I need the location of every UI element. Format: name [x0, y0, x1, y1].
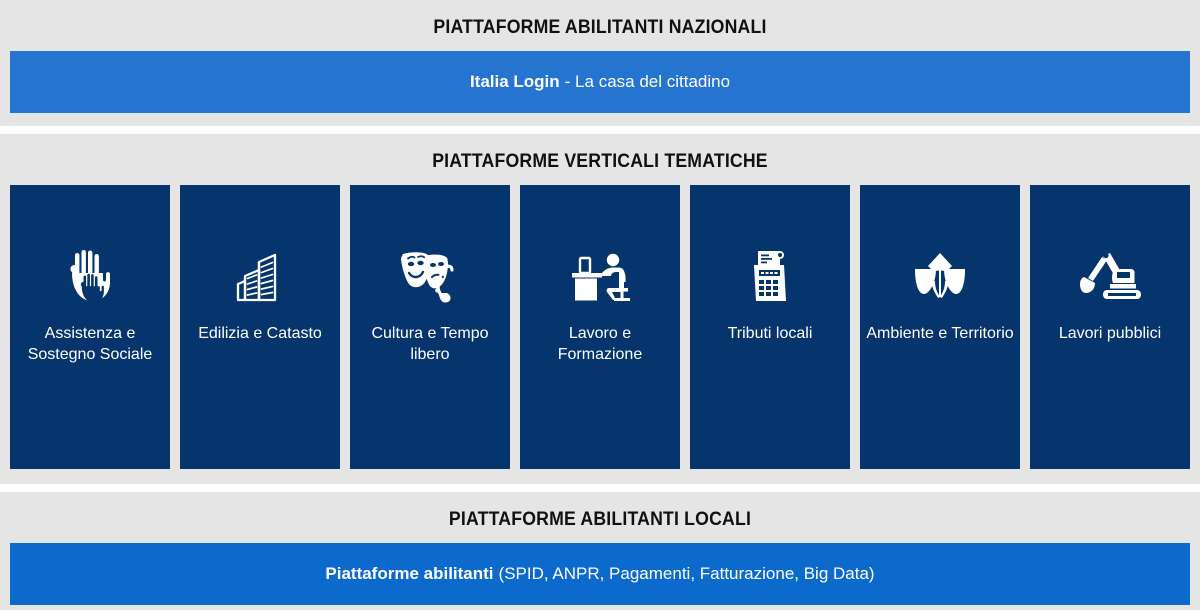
card-label: Tributi locali: [722, 323, 819, 344]
excavator-icon: [1078, 247, 1142, 309]
banner-italia-login[interactable]: Italia Login - La casa del cittadino: [10, 51, 1190, 113]
band-divider-bottom: [0, 484, 1200, 492]
banner-italia-login-strong: Italia Login: [470, 72, 560, 92]
section-title-local: PIATTAFORME ABILITANTI LOCALI: [42, 492, 1158, 543]
card-lavoro-formazione[interactable]: Lavoro e Formazione: [520, 185, 680, 469]
pos-terminal-icon: [738, 247, 802, 309]
banner-italia-login-rest: - La casa del cittadino: [565, 72, 730, 92]
banner-piattaforme-abilitanti[interactable]: Piattaforme abilitanti (SPID, ANPR, Paga…: [10, 543, 1190, 605]
card-label: Ambiente e Territorio: [860, 323, 1019, 344]
vertical-cards-row: Assistenza e Sostegno Sociale: [0, 185, 1200, 479]
person-at-desk-icon: [568, 247, 632, 309]
theatre-masks-saxophone-icon: [398, 247, 462, 309]
card-label: Lavori pubblici: [1053, 323, 1167, 344]
card-cultura-tempo-libero[interactable]: Cultura e Tempo libero: [350, 185, 510, 469]
section-vertical: PIATTAFORME VERTICALI TEMATICHE: [0, 134, 1200, 484]
helping-hands-icon: [58, 247, 122, 309]
card-label: Edilizia e Catasto: [192, 323, 328, 344]
card-edilizia-catasto[interactable]: Edilizia e Catasto: [180, 185, 340, 469]
section-title-national: PIATTAFORME ABILITANTI NAZIONALI: [42, 0, 1158, 51]
card-lavori-pubblici[interactable]: Lavori pubblici: [1030, 185, 1190, 469]
section-title-vertical: PIATTAFORME VERTICALI TEMATICHE: [42, 134, 1158, 185]
card-label: Cultura e Tempo libero: [350, 323, 510, 365]
section-national: PIATTAFORME ABILITANTI NAZIONALI Italia …: [0, 0, 1200, 126]
buildings-icon: [228, 247, 292, 309]
section-local: PIATTAFORME ABILITANTI LOCALI Piattaform…: [0, 492, 1200, 610]
banner-piattaforme-abilitanti-strong: Piattaforme abilitanti: [325, 564, 493, 584]
card-assistenza-sostegno-sociale[interactable]: Assistenza e Sostegno Sociale: [10, 185, 170, 469]
sprout-leaves-icon: [908, 247, 972, 309]
national-platforms-diagram: PIATTAFORME ABILITANTI NAZIONALI Italia …: [0, 0, 1200, 610]
card-label: Lavoro e Formazione: [520, 323, 680, 365]
card-ambiente-territorio[interactable]: Ambiente e Territorio: [860, 185, 1020, 469]
card-label: Assistenza e Sostegno Sociale: [10, 323, 170, 365]
card-tributi-locali[interactable]: Tributi locali: [690, 185, 850, 469]
band-divider-top: [0, 126, 1200, 134]
banner-piattaforme-abilitanti-rest: (SPID, ANPR, Pagamenti, Fatturazione, Bi…: [499, 564, 875, 584]
